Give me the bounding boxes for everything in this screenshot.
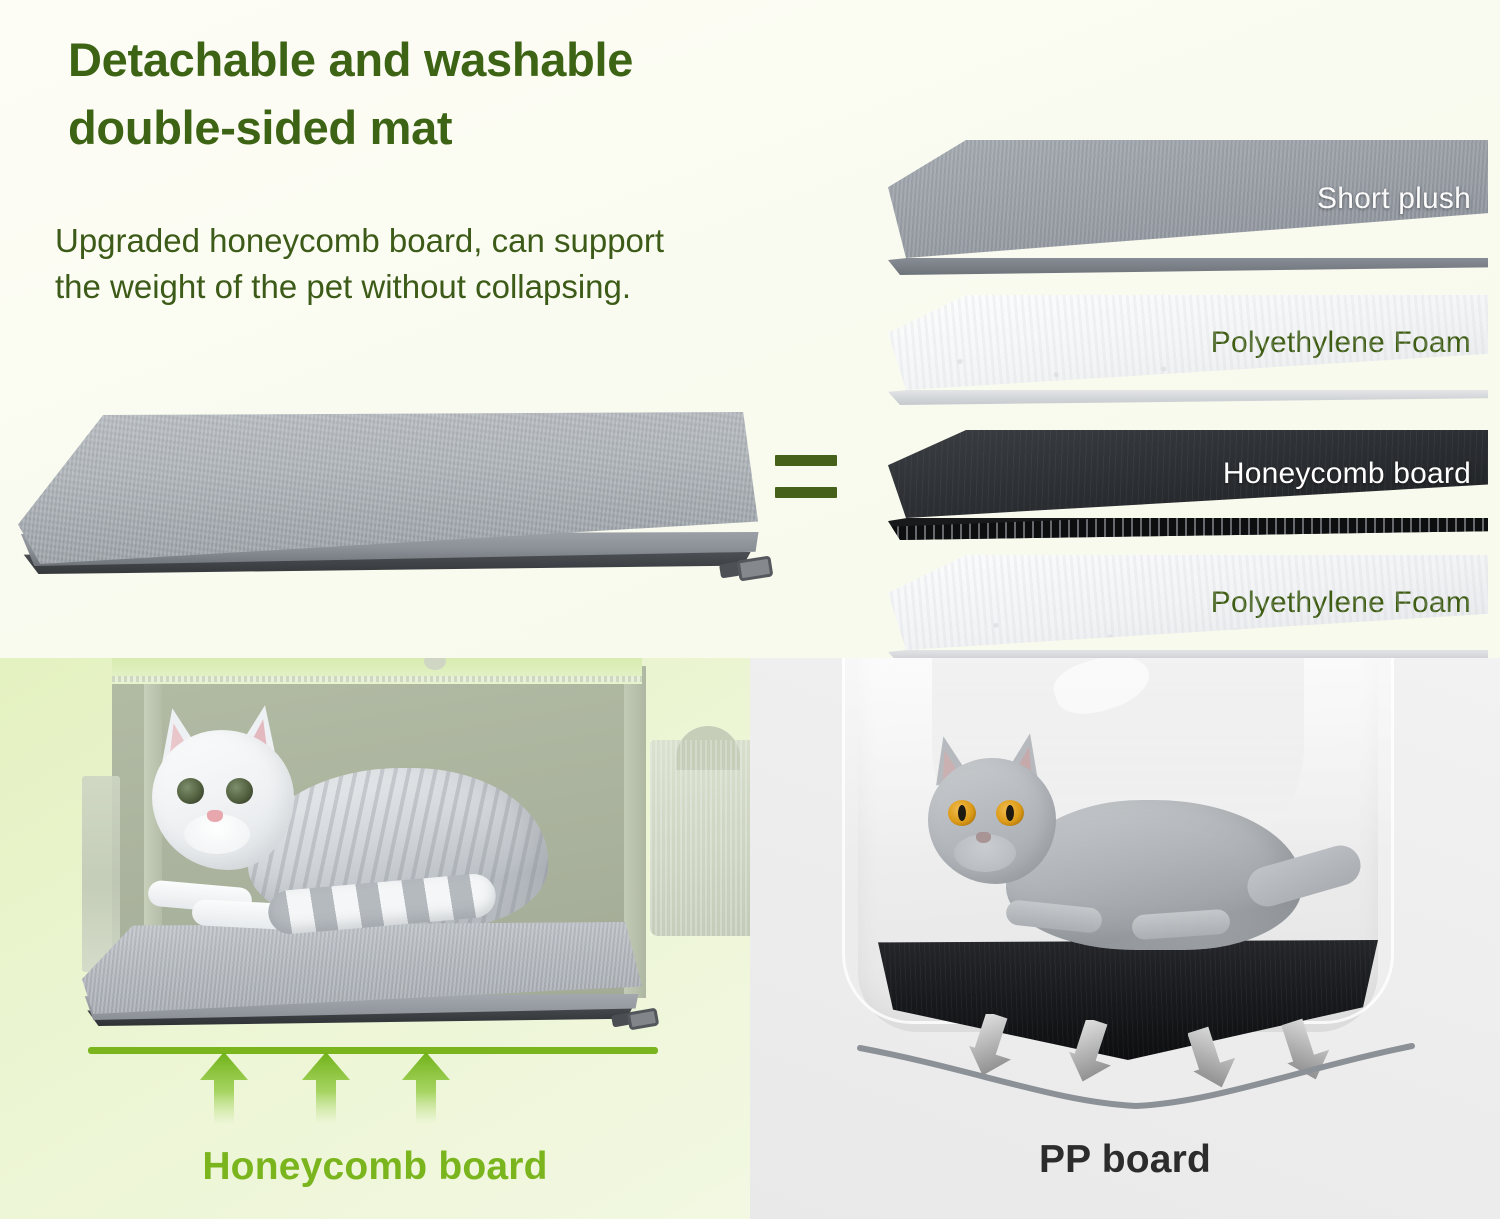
honeycomb-corrugation xyxy=(888,518,1488,540)
up-arrow-icon xyxy=(198,1050,250,1124)
layer-honeycomb-board: Honeycomb board xyxy=(888,430,1488,540)
silver-tabby-cat xyxy=(130,706,560,956)
layer-slab: Polyethylene Foam xyxy=(888,555,1488,650)
layer-edge xyxy=(888,650,1488,658)
cat-eye-right xyxy=(226,778,253,804)
zipper-pull xyxy=(737,555,774,581)
comparison-section: Honeycomb board xyxy=(0,658,1500,1219)
layer-label: Polyethylene Foam xyxy=(1211,586,1471,620)
cat-eye-left xyxy=(948,800,976,826)
sagging-curve-line xyxy=(856,1036,1416,1116)
equals-bar-bottom xyxy=(775,487,837,498)
layer-slab: Honeycomb board xyxy=(888,430,1488,518)
headline-line-1: Detachable and washable xyxy=(64,36,639,85)
product-infographic: Detachable and washable double-sided mat… xyxy=(0,0,1500,1219)
subtitle: Upgraded honeycomb board, can support th… xyxy=(55,218,855,310)
comparison-panel-pp-board: PP board xyxy=(750,658,1500,1219)
cat-nose xyxy=(976,832,991,843)
pp-board-caption: PP board xyxy=(750,1138,1500,1182)
comparison-panel-honeycomb: Honeycomb board xyxy=(0,658,750,1219)
cat-nose xyxy=(207,810,223,822)
gray-cat xyxy=(910,736,1350,986)
top-section: Detachable and washable double-sided mat… xyxy=(0,0,1500,658)
cat-eye-right xyxy=(996,800,1024,826)
plush-mat-product xyxy=(18,412,778,612)
layer-edge xyxy=(888,390,1488,405)
headline: Detachable and washable double-sided mat xyxy=(64,36,884,172)
honeycomb-board-caption: Honeycomb board xyxy=(0,1145,750,1189)
honeycomb-mat-flat xyxy=(82,922,662,1042)
equals-icon xyxy=(775,455,837,498)
layer-label: Honeycomb board xyxy=(1223,457,1471,491)
zipper-icon xyxy=(716,555,772,587)
cat-eye-left xyxy=(177,778,204,804)
flat-support-line xyxy=(88,1047,658,1054)
layer-stack-diagram: Short plush Polyethylene Foam Honeycomb … xyxy=(888,140,1488,595)
zipper-pull xyxy=(627,1008,660,1031)
zipper-icon xyxy=(610,1008,658,1034)
subtitle-line-1: Upgraded honeycomb board, can support xyxy=(55,218,855,264)
headline-line-2: double-sided mat xyxy=(64,104,458,153)
layer-label: Short plush xyxy=(1317,182,1471,216)
layer-label: Polyethylene Foam xyxy=(1211,326,1471,360)
layer-edge xyxy=(888,258,1488,275)
layer-slab: Short plush xyxy=(888,140,1488,258)
layer-polyethylene-foam-bottom: Polyethylene Foam xyxy=(888,555,1488,658)
layer-polyethylene-foam-top: Polyethylene Foam xyxy=(888,295,1488,405)
layer-short-plush: Short plush xyxy=(888,140,1488,275)
layer-slab: Polyethylene Foam xyxy=(888,295,1488,390)
carrier-side-pocket xyxy=(650,740,750,936)
equals-bar-top xyxy=(775,455,837,466)
carrier-top-zipper xyxy=(112,658,642,684)
up-arrow-icon xyxy=(400,1050,452,1124)
subtitle-line-2: the weight of the pet without collapsing… xyxy=(55,264,855,310)
up-arrow-icon xyxy=(300,1050,352,1124)
